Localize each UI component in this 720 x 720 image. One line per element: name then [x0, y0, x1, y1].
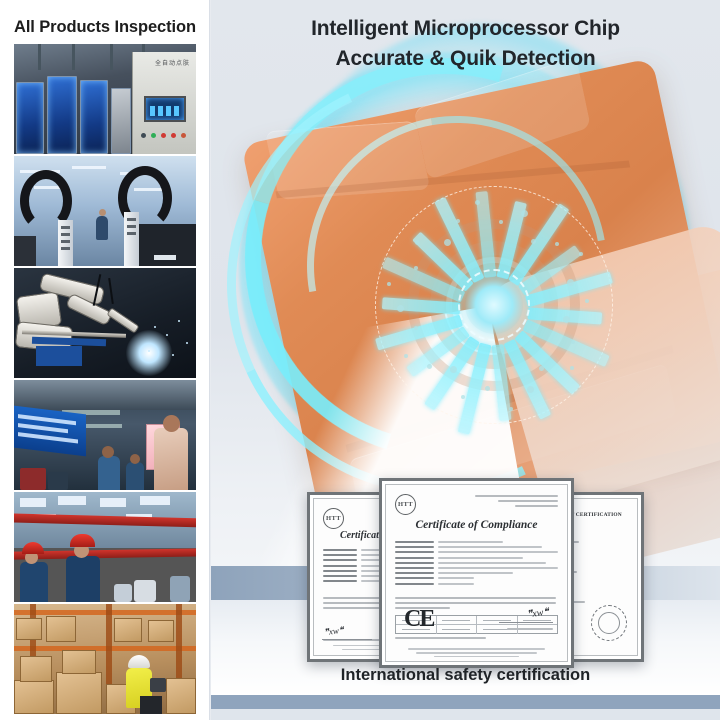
- hub-dot: [509, 407, 513, 411]
- hub-dot: [397, 305, 404, 312]
- hub-dot: [585, 299, 589, 303]
- certificate-rohs-signature: ❞xw❝: [323, 625, 344, 639]
- certificate-ce-fields: [395, 541, 558, 588]
- hub-dot: [499, 220, 503, 224]
- htt-logo-icon: HTT: [395, 494, 416, 515]
- hub-dot: [444, 239, 451, 246]
- hub-core-glow: [465, 276, 523, 334]
- htt-logo-icon: HTT: [323, 508, 344, 529]
- hub-dot: [570, 366, 574, 370]
- ce-mark: CE: [404, 606, 433, 633]
- photo-robotic-hose-assembly[interactable]: [14, 156, 196, 266]
- products-inspection-panel: All Products Inspection 全自动点肤: [0, 0, 211, 720]
- panel-title: All Products Inspection: [14, 14, 204, 40]
- hub-dot: [387, 282, 391, 286]
- certificate-ce-title: Certificate of Compliance: [386, 519, 567, 531]
- hero-section: Intelligent Microprocessor Chip Accurate…: [211, 0, 720, 720]
- certificate-ce-inner: HTT Certificate of Compliance: [385, 484, 568, 662]
- hub-dot: [475, 200, 480, 205]
- hub-dot: [527, 386, 534, 393]
- photo-automated-production-line[interactable]: 全自动点肤: [14, 44, 196, 154]
- hub-dot: [539, 366, 544, 371]
- hub-dot: [404, 354, 408, 358]
- footer-band-blue: [211, 695, 720, 709]
- photo-warehouse-packing[interactable]: [14, 604, 196, 714]
- photo-welding-robot[interactable]: [14, 268, 196, 378]
- inspection-photo-strip: 全自动点肤: [14, 44, 196, 716]
- certificate-ce[interactable]: HTT Certificate of Compliance: [379, 478, 574, 668]
- hub-dot: [415, 240, 420, 245]
- worker-legs: [140, 696, 162, 714]
- clipboard-icon: [150, 678, 166, 692]
- signature-underline: [499, 622, 553, 623]
- certification-caption: International safety certification: [211, 666, 720, 685]
- hub-dot: [414, 326, 418, 330]
- ccc-official-seal-icon: [591, 605, 627, 641]
- hub-dot: [450, 366, 457, 373]
- chip-radial-hub: [369, 180, 619, 430]
- footer-band-light: [211, 709, 720, 720]
- certificate-ce-subnote: [395, 637, 558, 642]
- certificate-ce-issuer: [473, 628, 553, 633]
- hub-dot: [571, 340, 575, 344]
- signature-underline: [322, 639, 372, 640]
- certificate-ce-header-meta: [475, 495, 558, 511]
- photo-worker-blue-signage[interactable]: [14, 380, 196, 490]
- screenshot-root: Intelligent Microprocessor Chip Accurate…: [0, 0, 720, 720]
- photo-red-hardhat-inspectors[interactable]: [14, 492, 196, 602]
- certificate-ce-footer: [408, 648, 546, 657]
- panel-divider: [209, 0, 211, 720]
- certificate-group: HTT Certificate of Compliance: [211, 470, 720, 670]
